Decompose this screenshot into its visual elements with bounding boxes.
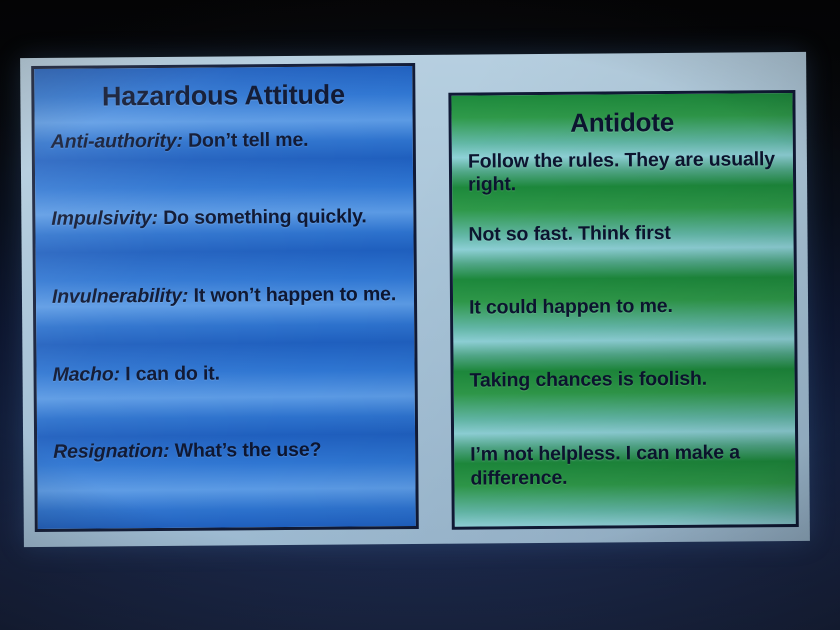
attitude-statement: What’s the use?	[169, 439, 321, 462]
antidote-panel: Antidote Follow the rules. They are usua…	[448, 90, 798, 530]
antidote-title: Antidote	[468, 107, 777, 138]
hazardous-attitude-title: Hazardous Attitude	[50, 80, 396, 112]
hazardous-attitude-rows: Anti-authority: Don’t tell me. Impulsivi…	[51, 110, 400, 519]
antidote-statement: Follow the rules. They are usually right…	[468, 148, 777, 198]
table-row: Impulsivity: Do something quickly.	[51, 205, 398, 285]
attitude-label: Impulsivity:	[51, 207, 158, 230]
attitude-label: Resignation:	[53, 440, 169, 463]
attitude-label: Macho:	[52, 363, 120, 386]
table-row: I’m not helpless. I can make a differenc…	[470, 441, 780, 517]
attitude-entry: Invulnerability: It won’t happen to me.	[52, 283, 396, 309]
antidote-statement: It could happen to me.	[469, 295, 673, 320]
table-row: Invulnerability: It won’t happen to me.	[52, 283, 399, 363]
attitude-statement: I can do it.	[120, 362, 220, 385]
comparison-table: Hazardous Attitude Anti-authority: Don’t…	[20, 52, 810, 547]
attitude-entry: Resignation: What’s the use?	[53, 439, 321, 465]
antidote-content: Antidote Follow the rules. They are usua…	[451, 93, 795, 527]
attitude-entry: Impulsivity: Do something quickly.	[51, 206, 366, 232]
attitude-statement: Don’t tell me.	[183, 129, 309, 152]
table-row: Follow the rules. They are usually right…	[468, 148, 778, 224]
antidote-statement: Taking chances is foolish.	[470, 368, 708, 394]
attitude-entry: Anti-authority: Don’t tell me.	[51, 129, 309, 155]
attitude-statement: Do something quickly.	[158, 206, 367, 230]
table-row: Taking chances is foolish.	[470, 368, 780, 444]
attitude-label: Invulnerability:	[52, 285, 188, 308]
slide-photo: Hazardous Attitude Anti-authority: Don’t…	[0, 0, 840, 630]
attitude-entry: Macho: I can do it.	[52, 362, 219, 387]
antidote-rows: Follow the rules. They are usually right…	[468, 136, 780, 517]
table-row: Not so fast. Think first	[468, 221, 778, 297]
attitude-statement: It won’t happen to me.	[188, 283, 396, 307]
table-row: It could happen to me.	[469, 294, 779, 370]
projected-slide: Hazardous Attitude Anti-authority: Don’t…	[20, 52, 810, 547]
table-row: Anti-authority: Don’t tell me.	[51, 128, 398, 208]
attitude-label: Anti-authority:	[51, 130, 183, 153]
antidote-statement: Not so fast. Think first	[468, 222, 670, 247]
hazardous-attitude-panel: Hazardous Attitude Anti-authority: Don’t…	[31, 63, 419, 532]
hazardous-attitude-content: Hazardous Attitude Anti-authority: Don’t…	[34, 66, 416, 529]
antidote-statement: I’m not helpless. I can make a differenc…	[470, 441, 779, 491]
table-row: Resignation: What’s the use?	[53, 438, 400, 518]
table-row: Macho: I can do it.	[52, 361, 399, 441]
